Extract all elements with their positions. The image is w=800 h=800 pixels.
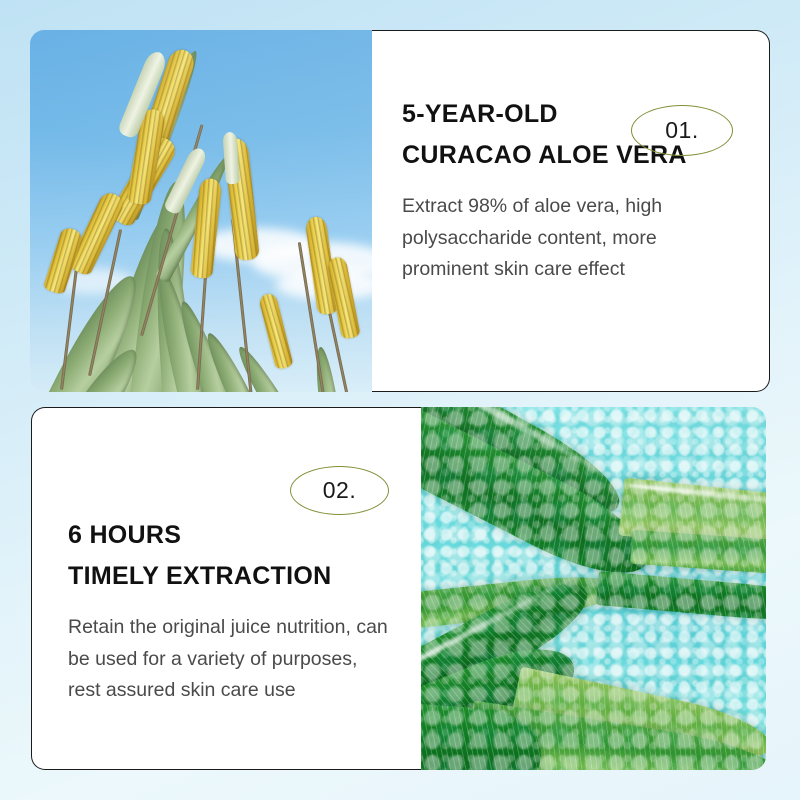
- aloe-plants-photo: [30, 30, 373, 392]
- promo-infographic: 01. 5-YEAR-OLD CURACAO ALOE VERA Extract…: [0, 0, 800, 800]
- step-number-badge-02: 02.: [290, 466, 389, 515]
- aloe-gel-macro-photo: [421, 407, 766, 770]
- section-1-body-text: Extract 98% of aloe vera, high polysacch…: [402, 191, 735, 286]
- section-2-text-card: 6 HOURS TIMELY EXTRACTION Retain the ori…: [31, 407, 421, 770]
- section-2-heading-line-1: 6 HOURS: [68, 514, 391, 557]
- water-droplets-texture-overlay: [421, 407, 766, 770]
- step-number-badge-01: 01.: [631, 105, 733, 156]
- section-2-heading-line-2: TIMELY EXTRACTION: [68, 555, 391, 598]
- section-2-body-text: Retain the original juice nutrition, can…: [68, 612, 391, 707]
- section-1-text-card: 01. 5-YEAR-OLD CURACAO ALOE VERA Extract…: [372, 30, 770, 392]
